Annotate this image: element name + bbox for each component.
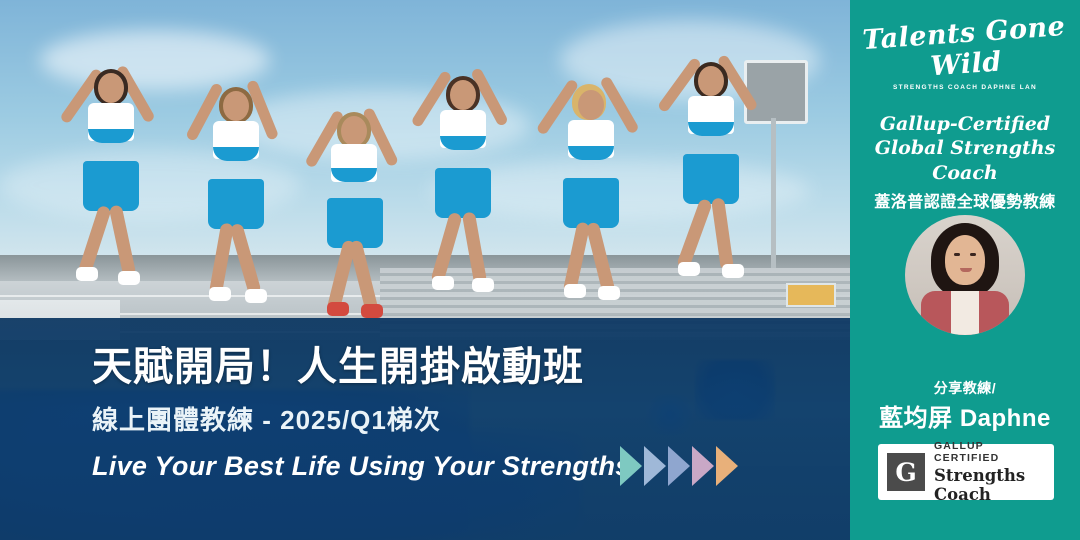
- shoe: [598, 286, 620, 300]
- head: [223, 91, 249, 121]
- cloud-shape: [40, 30, 270, 90]
- title-banner: 天賦開局！人生開掛啟動班 線上團體教練 - 2025/Q1梯次 Live You…: [0, 318, 850, 540]
- shoe: [678, 262, 700, 276]
- uniform-chevron: [331, 168, 377, 182]
- avatar-eye: [954, 253, 960, 256]
- shoe: [472, 278, 494, 292]
- shoe: [118, 271, 140, 285]
- head: [578, 90, 604, 120]
- uniform-skirt: [563, 178, 619, 228]
- scoreboard: [744, 60, 808, 124]
- chevron-arrow-group: [620, 446, 738, 486]
- gallup-badge-line2: Strengths Coach: [934, 466, 1045, 504]
- head: [698, 66, 724, 96]
- shoe: [76, 267, 98, 281]
- chevron-right-icon: [620, 446, 642, 486]
- gallup-g-icon: G: [887, 453, 925, 491]
- gallup-certified-badge: G GALLUP CERTIFIED Strengths Coach: [878, 444, 1054, 500]
- gallup-badge-line1: GALLUP CERTIFIED: [934, 440, 1045, 464]
- shoe: [361, 304, 383, 318]
- head: [450, 80, 476, 110]
- chevron-right-icon: [716, 446, 738, 486]
- uniform-chevron: [688, 122, 734, 136]
- avatar-eye: [970, 253, 976, 256]
- coach-name: 藍均屏 Daphne: [850, 398, 1080, 433]
- field-sign: [786, 283, 836, 307]
- avatar-face: [945, 235, 985, 285]
- banner-tagline: Live Your Best Life Using Your Strengths: [92, 451, 631, 482]
- credential-line1: Gallup-Certified: [850, 112, 1080, 136]
- uniform-chevron: [213, 147, 259, 161]
- head: [341, 116, 367, 146]
- banner-subtitle: 線上團體教練 - 2025/Q1梯次: [92, 400, 832, 437]
- coach-panel: Talents Gone Wild STRENGTHS COACH DAPHNE…: [850, 0, 1080, 540]
- credential-line2: Global Strengths Coach: [850, 136, 1080, 185]
- brand-logo-script: Talents Gone Wild: [848, 10, 1080, 88]
- shoe: [432, 276, 454, 290]
- avatar-shirt: [951, 291, 979, 335]
- shoe: [722, 264, 744, 278]
- shoe: [209, 287, 231, 301]
- promo-banner-canvas: 天賦開局！人生開掛啟動班 線上團體教練 - 2025/Q1梯次 Live You…: [0, 0, 1080, 540]
- chevron-right-icon: [692, 446, 714, 486]
- avatar: [905, 215, 1025, 335]
- light-pole: [771, 118, 776, 268]
- shoe: [245, 289, 267, 303]
- chevron-right-icon: [668, 446, 690, 486]
- banner-title: 天賦開局！人生開掛啟動班: [92, 344, 832, 390]
- uniform-chevron: [88, 129, 134, 143]
- shoe: [327, 302, 349, 316]
- coach-role-label: 分享教練/: [850, 378, 1080, 398]
- uniform-skirt: [435, 168, 491, 218]
- uniform-skirt: [208, 179, 264, 229]
- credential-heading: Gallup-Certified Global Strengths Coach …: [850, 112, 1080, 212]
- uniform-skirt: [683, 154, 739, 204]
- credential-line-cn: 蓋洛普認證全球優勢教練: [850, 188, 1080, 212]
- uniform-skirt: [83, 161, 139, 211]
- shoe: [564, 284, 586, 298]
- gallup-badge-text: GALLUP CERTIFIED Strengths Coach: [934, 440, 1045, 504]
- brand-logo: Talents Gone Wild STRENGTHS COACH DAPHNE…: [850, 18, 1080, 91]
- head: [98, 73, 124, 103]
- uniform-chevron: [440, 136, 486, 150]
- uniform-chevron: [568, 146, 614, 160]
- chevron-right-icon: [644, 446, 666, 486]
